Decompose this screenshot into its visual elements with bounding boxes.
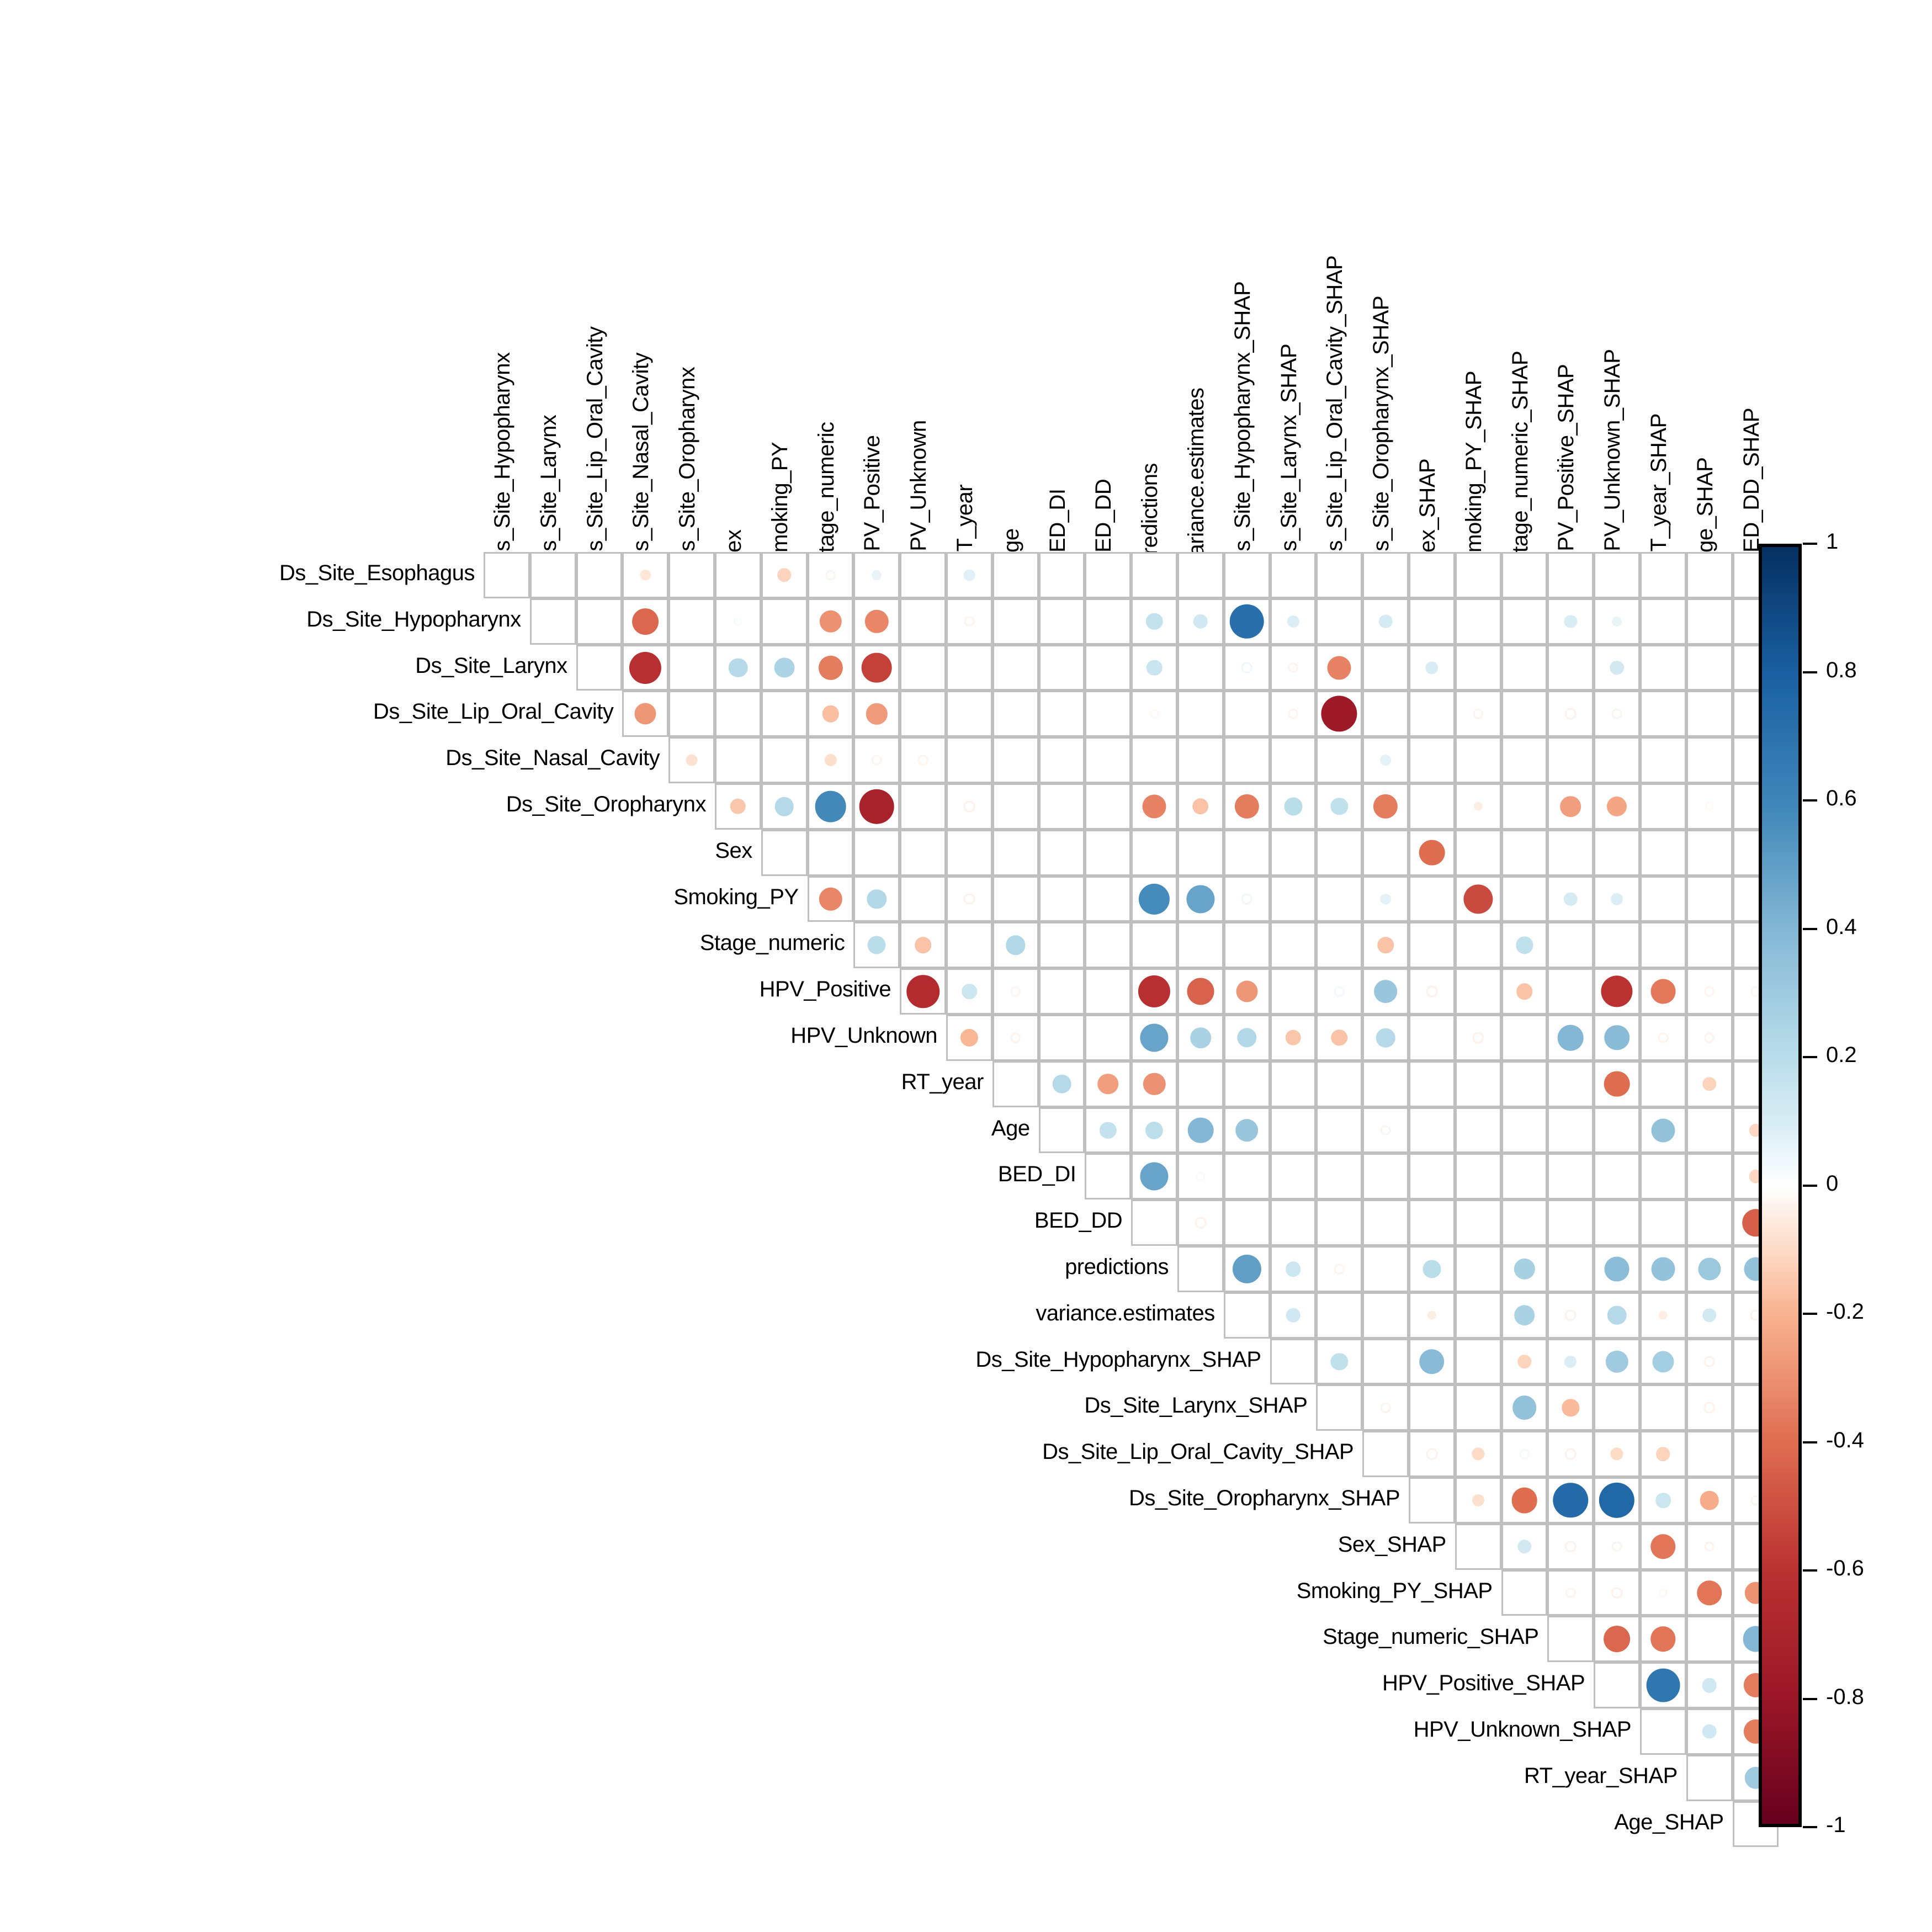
matrix-cell [1501, 1199, 1548, 1246]
matrix-cell [1640, 645, 1686, 691]
matrix-cell [1039, 1107, 1085, 1154]
matrix-cell [1085, 737, 1131, 783]
correlation-circle [1147, 660, 1163, 676]
matrix-cell [1270, 876, 1317, 922]
correlation-circle [1604, 1626, 1630, 1652]
correlation-circle [1377, 937, 1394, 954]
matrix-cell [1455, 1524, 1501, 1570]
legend-tick-label: 1 [1826, 529, 1838, 554]
matrix-cell [1547, 645, 1594, 691]
matrix-cell [1362, 1153, 1409, 1199]
matrix-cell [1640, 830, 1686, 876]
matrix-cell [1039, 876, 1085, 922]
correlation-circle [1052, 1074, 1071, 1094]
correlation-circle [1423, 1260, 1441, 1278]
column-label-ds-site-nasal-cavity: Ds_Site_Nasal_Cavity [629, 353, 654, 567]
correlation-circle [915, 937, 931, 954]
matrix-cell [1177, 830, 1224, 876]
column-label-hpv-positive: HPV_Positive [860, 435, 885, 567]
correlation-circle [1334, 1264, 1345, 1275]
row-label-predictions: predictions [0, 1255, 1169, 1280]
matrix-cell [1131, 830, 1177, 876]
row-label-ds-site-hypopharynx-shap: Ds_Site_Hypopharynx_SHAP [0, 1347, 1261, 1372]
correlation-circle [1286, 1261, 1301, 1277]
matrix-cell [1177, 552, 1224, 598]
column-label-predictions: predictions [1138, 463, 1163, 567]
matrix-cell [484, 552, 530, 598]
correlation-circle [730, 799, 746, 815]
matrix-cell [1085, 1015, 1131, 1061]
matrix-cell [1409, 1477, 1455, 1524]
matrix-cell [1640, 737, 1686, 783]
row-label-bed-dd: BED_DD [0, 1208, 1122, 1233]
matrix-cell [1409, 1199, 1455, 1246]
column-label-ds-site-oropharynx-shap: Ds_Site_Oropharynx_SHAP [1369, 296, 1394, 567]
matrix-cell [1177, 1061, 1224, 1107]
matrix-cell [1316, 830, 1362, 876]
matrix-cell [853, 830, 900, 876]
row-label-rt-year-shap: RT_year_SHAP [0, 1764, 1678, 1788]
matrix-cell [1455, 1292, 1501, 1339]
correlation-circle [1601, 976, 1633, 1007]
correlation-circle [872, 570, 882, 580]
correlation-circle [1704, 986, 1715, 997]
legend-tick [1803, 1569, 1817, 1572]
correlation-circle [1702, 1724, 1717, 1739]
correlation-circle [1233, 1255, 1261, 1283]
matrix-cell [1594, 737, 1640, 783]
correlation-circle [1426, 1448, 1438, 1460]
correlation-circle [1516, 983, 1533, 1000]
correlation-circle [1703, 1402, 1715, 1414]
matrix-cell [1224, 1153, 1270, 1199]
matrix-cell [576, 645, 623, 691]
matrix-cell [1316, 552, 1362, 598]
matrix-cell [1177, 1246, 1224, 1292]
correlation-circle [1702, 1678, 1717, 1693]
correlation-circle [1328, 656, 1351, 680]
correlation-circle [1655, 1493, 1671, 1508]
correlation-circle [1334, 986, 1345, 997]
row-label-stage-numeric: Stage_numeric [0, 931, 845, 956]
matrix-cell [1455, 1199, 1501, 1246]
matrix-cell [1547, 968, 1594, 1015]
correlation-circle [1143, 794, 1166, 818]
matrix-cell [1085, 783, 1131, 830]
correlation-circle [1380, 755, 1391, 766]
matrix-cell [1547, 922, 1594, 968]
matrix-cell [946, 691, 992, 737]
matrix-cell [1547, 1246, 1594, 1292]
correlation-circle [962, 984, 977, 999]
matrix-cell [992, 830, 1039, 876]
legend-tick-label: -0.6 [1826, 1556, 1864, 1581]
correlation-circle [1511, 1488, 1537, 1514]
matrix-cell [668, 552, 715, 598]
matrix-cell [1224, 922, 1270, 968]
matrix-cell [1501, 1061, 1548, 1107]
row-label-hpv-unknown: HPV_Unknown [0, 1023, 937, 1048]
column-label-hpv-unknown: HPV_Unknown [906, 420, 931, 567]
matrix-cell [992, 552, 1039, 598]
correlation-circle [868, 936, 886, 954]
legend-tick-label: 0.6 [1826, 786, 1857, 811]
matrix-cell [1224, 830, 1270, 876]
matrix-cell [576, 552, 623, 598]
matrix-cell [1501, 783, 1548, 830]
matrix-cell [1316, 922, 1362, 968]
legend-tick-label: -0.8 [1826, 1685, 1864, 1710]
matrix-cell [1501, 1153, 1548, 1199]
correlation-circle [1565, 1541, 1577, 1552]
color-legend-bar [1759, 544, 1802, 1827]
correlation-circle [1651, 1257, 1675, 1281]
column-label-ds-site-hypopharynx-shap: Ds_Site_Hypopharynx_SHAP [1230, 282, 1255, 567]
row-label-bed-di: BED_DI [0, 1162, 1076, 1187]
matrix-cell [668, 691, 715, 737]
correlation-circle [1700, 1491, 1719, 1510]
legend-tick-label: -0.2 [1826, 1299, 1864, 1324]
correlation-circle [1473, 802, 1483, 811]
row-label-ds-site-oropharynx-shap: Ds_Site_Oropharynx_SHAP [0, 1486, 1400, 1511]
matrix-cell [1039, 598, 1085, 645]
correlation-circle [1285, 1030, 1301, 1046]
correlation-circle [1463, 884, 1493, 914]
matrix-cell [1594, 1153, 1640, 1199]
matrix-cell [1270, 830, 1317, 876]
matrix-cell [1686, 830, 1733, 876]
matrix-cell [1686, 645, 1733, 691]
matrix-cell [1547, 1107, 1594, 1154]
row-label-age-shap: Age_SHAP [0, 1810, 1724, 1835]
correlation-circle [1612, 617, 1622, 627]
matrix-cell [1686, 691, 1733, 737]
correlation-circle [1651, 1118, 1675, 1142]
row-label-ds-site-larynx: Ds_Site_Larynx [0, 654, 567, 678]
correlation-circle [1607, 797, 1627, 816]
matrix-cell [1640, 876, 1686, 922]
column-label-stage-numeric: Stage_numeric [814, 422, 839, 567]
matrix-cell [1039, 691, 1085, 737]
row-label-sex-shap: Sex_SHAP [0, 1532, 1446, 1557]
correlation-circle [1139, 883, 1170, 914]
correlation-circle [1381, 1403, 1391, 1413]
row-label-hpv-unknown-shap: HPV_Unknown_SHAP [0, 1717, 1631, 1742]
matrix-cell [900, 783, 946, 830]
matrix-cell [1224, 1292, 1270, 1339]
correlation-circle [777, 568, 792, 582]
matrix-cell [1686, 598, 1733, 645]
correlation-circle [1610, 661, 1624, 675]
matrix-cell [1362, 1339, 1409, 1385]
matrix-cell [1224, 1061, 1270, 1107]
matrix-cell [1316, 1153, 1362, 1199]
matrix-cell [1409, 1015, 1455, 1061]
matrix-cell [1039, 737, 1085, 783]
matrix-cell [761, 737, 808, 783]
matrix-cell [946, 645, 992, 691]
matrix-cell [1039, 1015, 1085, 1061]
matrix-cell [992, 783, 1039, 830]
correlation-circle [1558, 1025, 1584, 1051]
correlation-circle [964, 801, 975, 813]
matrix-cell [1270, 1339, 1317, 1385]
row-label-ds-site-lip-oral-cavity: Ds_Site_Lip_Oral_Cavity [0, 699, 613, 724]
matrix-cell [946, 737, 992, 783]
matrix-cell [1594, 552, 1640, 598]
matrix-cell [1177, 737, 1224, 783]
matrix-cell [1594, 1107, 1640, 1154]
matrix-cell [1270, 922, 1317, 968]
matrix-cell [1409, 737, 1455, 783]
matrix-cell [1547, 1616, 1594, 1662]
column-label-ds-site-larynx-shap: Ds_Site_Larynx_SHAP [1277, 344, 1302, 567]
matrix-cell [1131, 922, 1177, 968]
matrix-cell [1640, 1199, 1686, 1246]
row-label-variance-estimates: variance.estimates [0, 1301, 1215, 1326]
correlation-circle [774, 657, 794, 678]
correlation-circle [1140, 1163, 1169, 1191]
correlation-circle [1193, 614, 1208, 629]
matrix-cell [1270, 1107, 1317, 1154]
correlation-circle [1097, 1074, 1118, 1095]
matrix-cell [1501, 552, 1548, 598]
matrix-cell [1085, 830, 1131, 876]
column-label-stage-numeric-shap: Stage_numeric_SHAP [1508, 351, 1533, 567]
correlation-circle [1241, 893, 1252, 905]
correlation-circle [1565, 1588, 1576, 1598]
matrix-cell [1224, 691, 1270, 737]
correlation-circle [859, 789, 894, 824]
correlation-circle [964, 893, 975, 905]
matrix-cell [1455, 1107, 1501, 1154]
column-label-ds-site-oropharynx: Ds_Site_Oropharynx [675, 367, 700, 567]
column-label-ds-site-hypopharynx: Ds_Site_Hypopharynx [490, 353, 515, 567]
matrix-cell [1085, 968, 1131, 1015]
matrix-cell [1085, 691, 1131, 737]
correlation-circle [1376, 1028, 1395, 1048]
matrix-cell [668, 645, 715, 691]
matrix-cell [1640, 922, 1686, 968]
row-label-sex: Sex [0, 838, 752, 863]
row-label-hpv-positive: HPV_Positive [0, 977, 891, 1002]
matrix-cell [1177, 691, 1224, 737]
matrix-cell [992, 691, 1039, 737]
matrix-cell [1455, 552, 1501, 598]
matrix-cell [1686, 1153, 1733, 1199]
matrix-cell [1594, 1199, 1640, 1246]
matrix-cell [1501, 1570, 1548, 1616]
matrix-cell [1455, 1153, 1501, 1199]
matrix-cell [1085, 552, 1131, 598]
matrix-cell [808, 830, 854, 876]
legend-tick [1803, 928, 1817, 930]
legend-tick [1803, 543, 1817, 545]
matrix-cell [992, 645, 1039, 691]
legend-tick [1803, 1313, 1817, 1315]
matrix-cell [992, 598, 1039, 645]
correlation-circle [1646, 1669, 1680, 1702]
matrix-cell [1409, 1384, 1455, 1431]
matrix-cell [1501, 1015, 1548, 1061]
matrix-cell [1085, 876, 1131, 922]
correlation-circle [729, 658, 748, 677]
matrix-cell [1409, 598, 1455, 645]
legend-tick [1803, 671, 1817, 673]
matrix-cell [1316, 876, 1362, 922]
matrix-cell [1270, 968, 1317, 1015]
correlation-circle [629, 651, 661, 683]
correlation-circle [1656, 1447, 1670, 1461]
matrix-cell [1501, 691, 1548, 737]
row-label-smoking-py-shap: Smoking_PY_SHAP [0, 1579, 1493, 1604]
correlation-circle [1514, 1305, 1535, 1326]
correlation-circle [1472, 1032, 1484, 1044]
correlation-circle [1650, 979, 1675, 1004]
correlation-circle [1236, 981, 1257, 1002]
correlation-circle [1702, 1308, 1717, 1323]
matrix-cell [1131, 1199, 1177, 1246]
matrix-cell [1455, 830, 1501, 876]
matrix-cell [900, 598, 946, 645]
correlation-circle [1381, 1125, 1391, 1135]
row-label-smoking-py: Smoking_PY [0, 885, 799, 910]
correlation-circle [1565, 708, 1577, 720]
correlation-circle [1010, 986, 1021, 997]
correlation-circle [1565, 1309, 1577, 1321]
matrix-cell [1594, 1662, 1640, 1708]
correlation-circle [1192, 798, 1209, 815]
correlation-circle [815, 791, 846, 822]
matrix-cell [761, 830, 808, 876]
correlation-circle [774, 797, 794, 816]
matrix-cell [1501, 737, 1548, 783]
correlation-circle [1702, 1077, 1717, 1091]
legend-tick-label: -0.4 [1826, 1428, 1864, 1453]
legend-tick [1803, 1056, 1817, 1058]
matrix-cell [1501, 645, 1548, 691]
matrix-cell [1316, 737, 1362, 783]
column-label-hpv-positive-shap: HPV_Positive_SHAP [1554, 364, 1579, 567]
matrix-cell [1409, 1153, 1455, 1199]
correlation-circle [1565, 1448, 1577, 1460]
row-label-ds-site-nasal-cavity: Ds_Site_Nasal_Cavity [0, 746, 660, 771]
matrix-cell [1686, 552, 1733, 598]
matrix-cell [1455, 968, 1501, 1015]
matrix-cell [1501, 598, 1548, 645]
matrix-cell [1640, 1384, 1686, 1431]
matrix-cell [1039, 968, 1085, 1015]
matrix-cell [1686, 1616, 1733, 1662]
correlation-circle [1519, 1449, 1530, 1459]
correlation-circle [1190, 1027, 1211, 1048]
matrix-cell [1455, 1246, 1501, 1292]
matrix-cell [1547, 1153, 1594, 1199]
matrix-cell [1177, 922, 1224, 968]
correlation-circle [825, 570, 836, 581]
matrix-cell [1316, 1384, 1362, 1431]
matrix-cell [1270, 1153, 1317, 1199]
matrix-cell [1455, 1384, 1501, 1431]
legend-tick-label: 0.4 [1826, 915, 1857, 940]
matrix-cell [992, 1061, 1039, 1107]
row-label-ds-site-esophagus: Ds_Site_Esophagus [0, 561, 475, 586]
correlation-circle [1235, 1119, 1259, 1142]
matrix-cell [1501, 830, 1548, 876]
matrix-cell [1501, 876, 1548, 922]
correlation-circle [1704, 1541, 1715, 1552]
matrix-cell [1409, 552, 1455, 598]
correlation-circle [1284, 797, 1302, 815]
matrix-cell [1362, 1292, 1409, 1339]
matrix-cell [1686, 922, 1733, 968]
matrix-cell [900, 645, 946, 691]
correlation-circle [1607, 1305, 1627, 1325]
correlation-circle [1658, 1033, 1669, 1043]
matrix-cell [1640, 598, 1686, 645]
row-label-ds-site-lip-oral-cavity-shap: Ds_Site_Lip_Oral_Cavity_SHAP [0, 1440, 1354, 1464]
correlation-circle [1512, 1395, 1537, 1420]
matrix-cell [1131, 737, 1177, 783]
matrix-cell [1686, 1755, 1733, 1801]
matrix-cell [1640, 552, 1686, 598]
matrix-cell [1316, 598, 1362, 645]
matrix-cell [1547, 830, 1594, 876]
correlation-circle [1612, 709, 1622, 719]
correlation-circle [1560, 796, 1581, 817]
column-label-smoking-py: Smoking_PY [768, 442, 793, 567]
row-label-age: Age [0, 1116, 1030, 1141]
matrix-cell [1270, 737, 1317, 783]
matrix-cell [900, 876, 946, 922]
matrix-cell [761, 691, 808, 737]
correlation-circle [1612, 1541, 1622, 1552]
matrix-cell [1039, 552, 1085, 598]
matrix-cell [1594, 1384, 1640, 1431]
correlation-circle [1241, 662, 1252, 673]
matrix-cell [1085, 1153, 1131, 1199]
correlation-circle [1138, 975, 1170, 1007]
matrix-cell [1547, 737, 1594, 783]
correlation-circle [635, 703, 656, 725]
matrix-cell [1409, 876, 1455, 922]
matrix-cell [1640, 1061, 1686, 1107]
matrix-cell [1362, 1431, 1409, 1477]
matrix-cell [900, 830, 946, 876]
correlation-circle [1331, 1029, 1348, 1046]
matrix-cell [1362, 552, 1409, 598]
matrix-cell [1455, 1061, 1501, 1107]
correlation-circle [1473, 709, 1483, 719]
matrix-cell [1131, 552, 1177, 598]
matrix-cell [1224, 1199, 1270, 1246]
matrix-cell [1039, 783, 1085, 830]
correlation-circle [1288, 709, 1298, 719]
correlation-circle [1426, 986, 1438, 997]
matrix-cell [1362, 1199, 1409, 1246]
matrix-cell [1316, 1061, 1362, 1107]
legend-tick-label: 0.8 [1826, 658, 1857, 683]
matrix-cell [1362, 645, 1409, 691]
legend-tick-label: 0 [1826, 1171, 1838, 1196]
row-label-ds-site-hypopharynx: Ds_Site_Hypopharynx [0, 607, 521, 632]
matrix-cell [1501, 1107, 1548, 1154]
correlation-circle [1605, 1256, 1630, 1281]
row-label-rt-year: RT_year [0, 1070, 984, 1095]
matrix-cell [1316, 1107, 1362, 1154]
matrix-cell [1224, 737, 1270, 783]
row-label-stage-numeric-shap: Stage_numeric_SHAP [0, 1625, 1538, 1649]
